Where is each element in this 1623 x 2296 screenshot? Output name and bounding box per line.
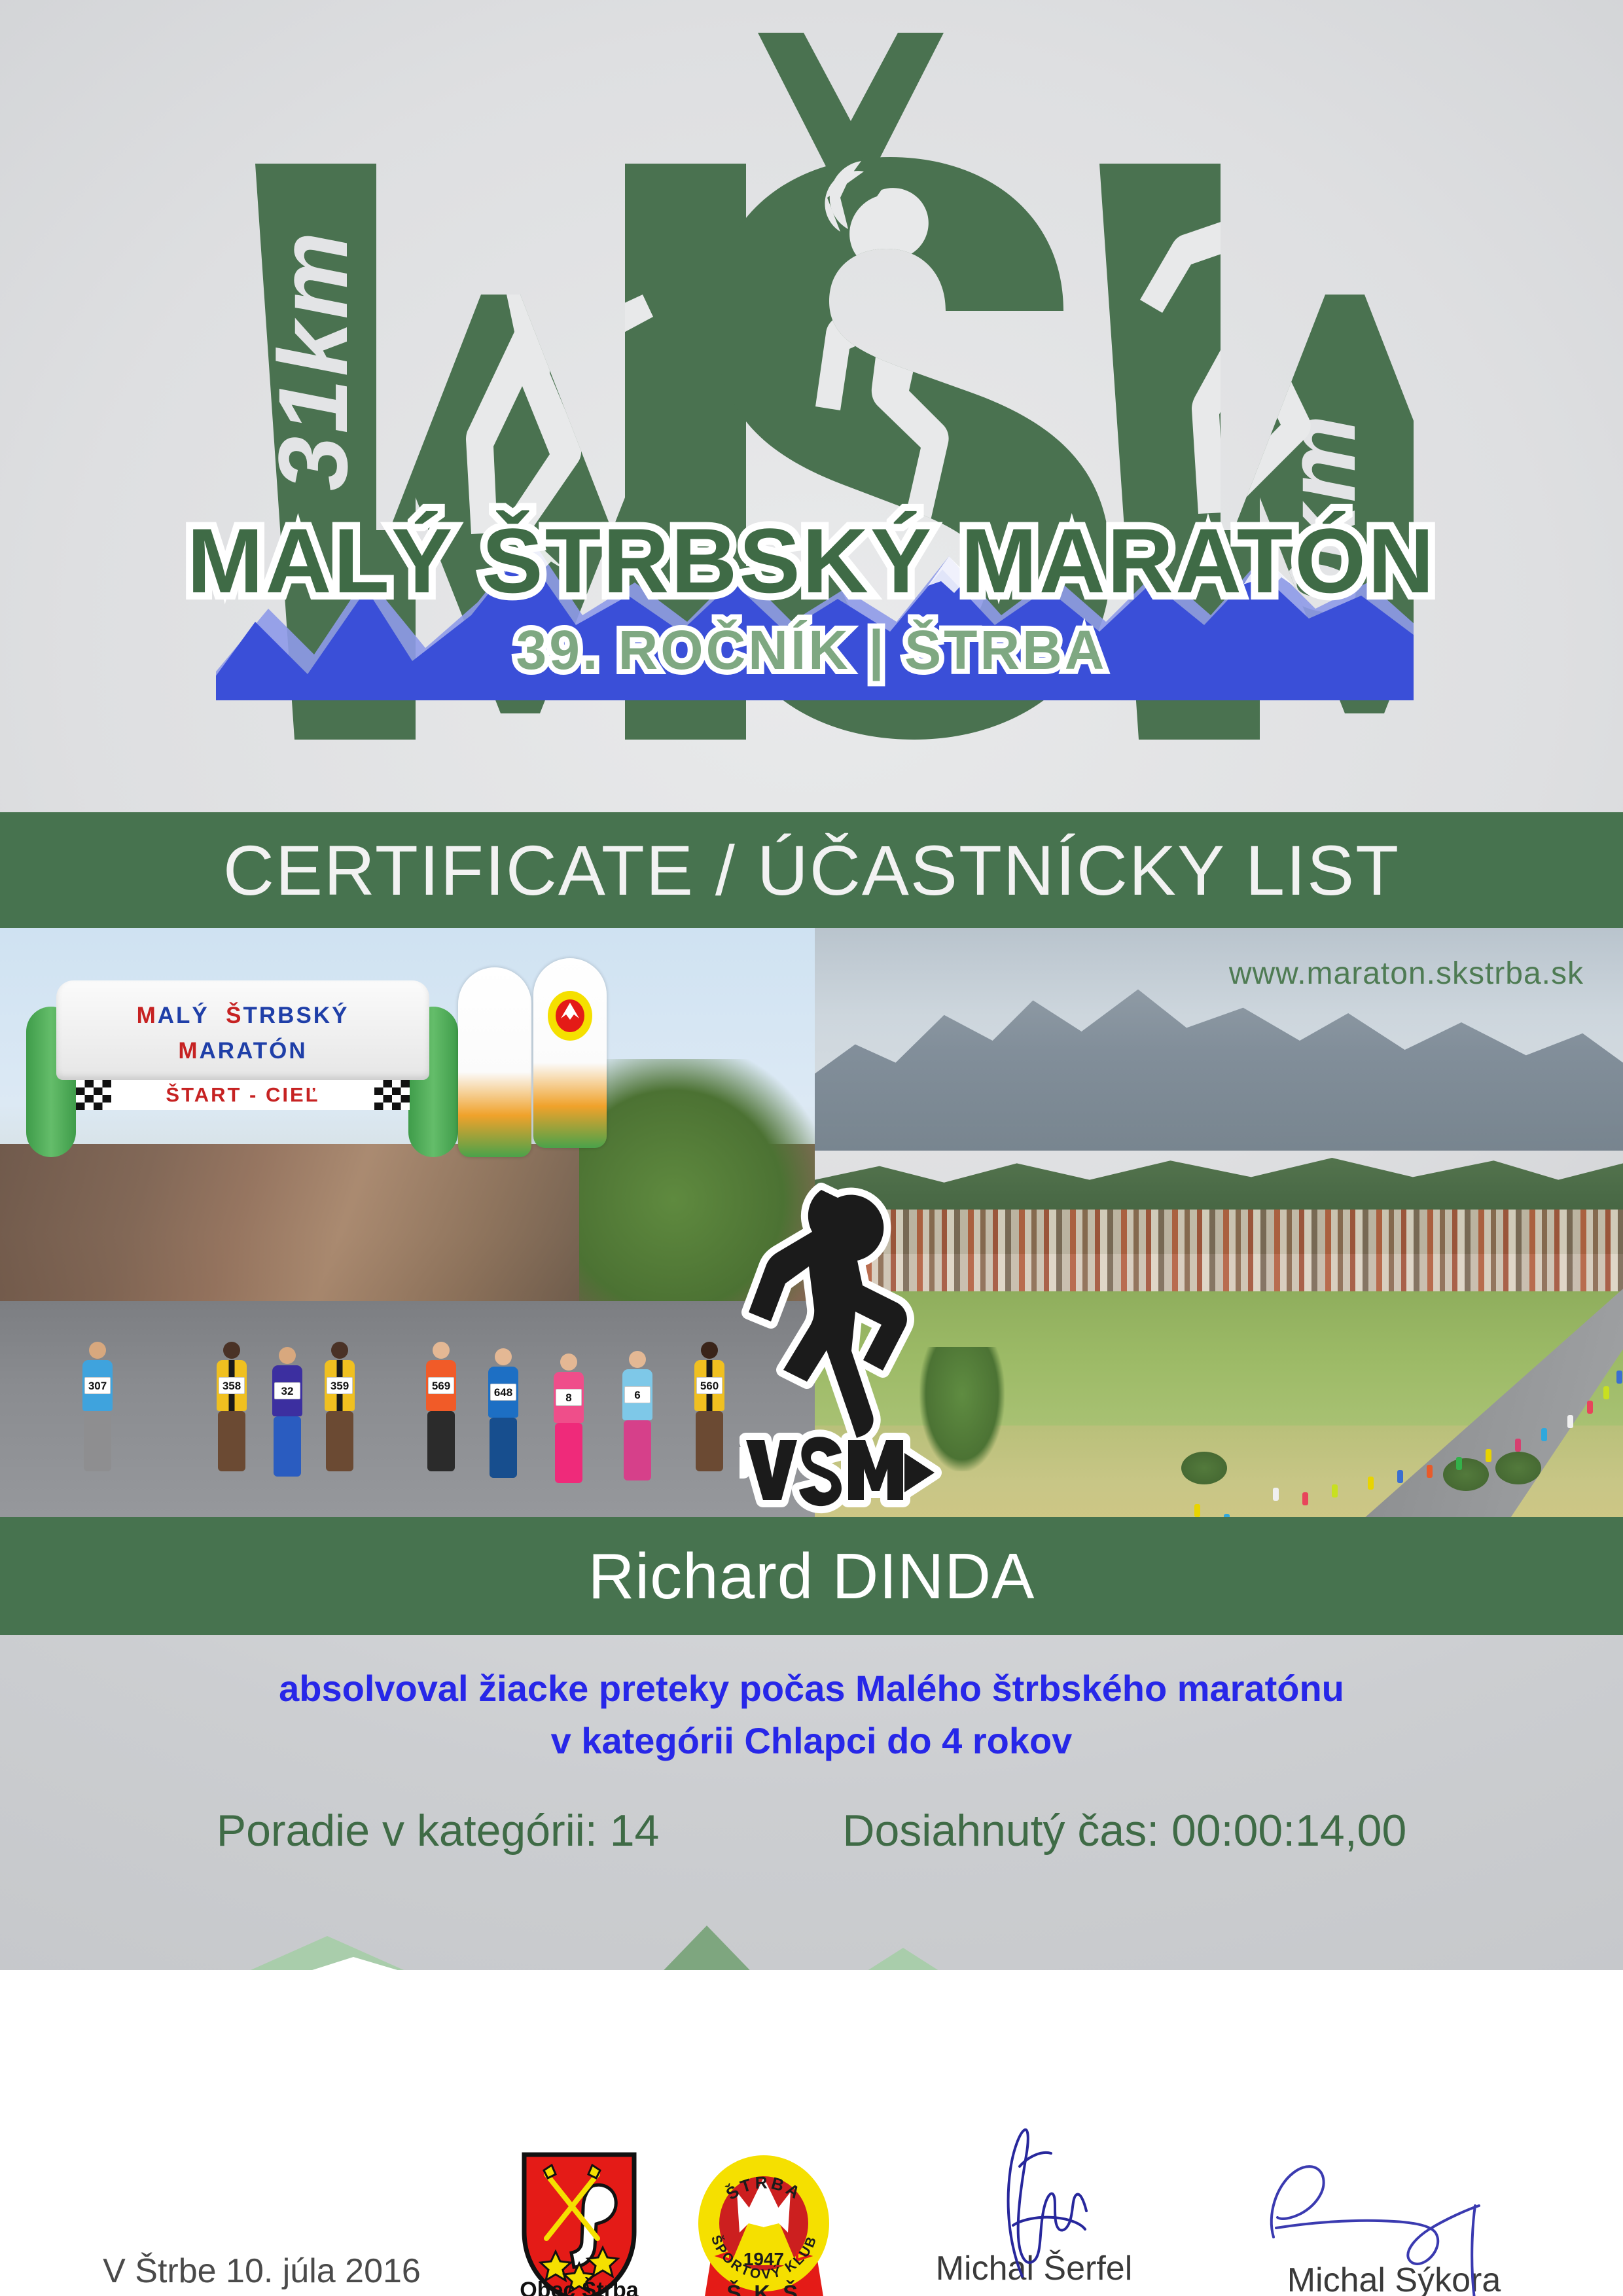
runner-figure: 560 xyxy=(690,1342,728,1471)
arch-top-panel: MALÝ ŠTRBSKÝ MARATÓN xyxy=(56,980,429,1080)
runner-figure: 569 xyxy=(422,1342,460,1471)
runner-figure: 6 xyxy=(618,1351,656,1480)
event-title-text: MALÝ ŠTRBSKÝ MARATÓN xyxy=(187,509,1436,612)
caron-accent xyxy=(758,33,944,171)
signature-block-director: Michal Šerfel riaditeľ pretekov xyxy=(851,2251,1217,2296)
distant-runner xyxy=(1194,1504,1200,1517)
flag-body xyxy=(533,958,607,1148)
checker-right xyxy=(374,1080,410,1110)
signature-role: riaditeľ pretekov xyxy=(851,2293,1217,2296)
distant-runner xyxy=(1567,1415,1573,1428)
bush xyxy=(1443,1458,1489,1491)
event-subtitle-text: 39. ROČNÍK | ŠTRBA xyxy=(516,619,1107,681)
start-finish-banner: ŠTART - CIEĽ xyxy=(76,1080,410,1110)
runner-figure: 32 xyxy=(268,1347,306,1477)
runner-bib: 6 xyxy=(624,1386,651,1403)
arch-title-line1: MALÝ ŠTRBSKÝ xyxy=(56,1003,429,1029)
photo-start-line: MALÝ ŠTRBSKÝ MARATÓN ŠTART - CIEĽ xyxy=(0,928,815,1517)
runner-figure: 307 xyxy=(79,1342,116,1471)
distant-runner xyxy=(1456,1457,1462,1470)
rank-in-category: Poradie v kategórii: 14 xyxy=(217,1805,660,1856)
runner-figure: 8 xyxy=(550,1354,588,1483)
sks-abbrev: Š K Š xyxy=(726,2280,801,2296)
distant-runner xyxy=(1397,1470,1403,1483)
participant-name: Richard DINDA xyxy=(588,1539,1035,1613)
runner-bib: 32 xyxy=(274,1382,300,1399)
event-logo-header: 31km 10km xyxy=(0,0,1623,812)
distant-runner xyxy=(1541,1428,1547,1441)
runner-figure: 358 xyxy=(213,1342,251,1471)
event-title-wordmark: MALÝ ŠTRBSKÝ MARATÓN 39. ROČNÍK | ŠTRBA xyxy=(0,497,1623,707)
distant-runner xyxy=(1587,1401,1593,1414)
signature-ink-sykora xyxy=(1211,2145,1577,2296)
distant-runner xyxy=(1515,1439,1521,1452)
participant-name-band: Richard DINDA xyxy=(0,1517,1623,1635)
teardrop-flag-tatry xyxy=(458,967,531,1157)
runner-figure: 359 xyxy=(321,1342,359,1471)
runner-figure: 648 xyxy=(484,1348,522,1478)
teardrop-flag-sks xyxy=(533,958,607,1148)
issue-date: V Štrbe 10. júla 2016 xyxy=(52,2251,471,2291)
results-row: Poradie v kategórii: 14 Dosiahnutý čas: … xyxy=(0,1805,1623,1856)
sks-flag-emblem xyxy=(545,990,595,1046)
signature-block-mayor: Michal Sýkora starosta obce Štrba xyxy=(1211,2263,1577,2296)
runner-bib: 359 xyxy=(327,1377,353,1394)
runner-bib: 648 xyxy=(490,1384,516,1401)
arch-title-line2: MARATÓN xyxy=(56,1038,429,1064)
bush xyxy=(1181,1452,1227,1484)
svg-text:31km: 31km xyxy=(258,229,368,491)
checker-left xyxy=(76,1080,111,1110)
distant-runner xyxy=(1616,1371,1622,1384)
runner-bib: 358 xyxy=(219,1377,245,1394)
certificate-title-band: CERTIFICATE / ÚČASTNÍCKY LIST xyxy=(0,812,1623,928)
distant-runner xyxy=(1486,1449,1491,1462)
distant-runner xyxy=(1302,1492,1308,1505)
website-url: www.maraton.skstrba.sk xyxy=(815,956,1584,992)
distant-runner xyxy=(1427,1465,1433,1478)
msm-runner-badge xyxy=(740,1178,949,1518)
sks-year: 1947 xyxy=(743,2249,784,2269)
runner-bib: 307 xyxy=(84,1377,111,1394)
certificate-title-text: CERTIFICATE / ÚČASTNÍCKY LIST xyxy=(223,829,1400,911)
achieved-time: Dosiahnutý čas: 00:00:14,00 xyxy=(842,1805,1406,1856)
certificate-description: absolvoval žiacke preteky počas Malého š… xyxy=(0,1662,1623,1767)
distant-runner xyxy=(1332,1484,1338,1498)
signature-ink-serfel xyxy=(851,2127,1217,2278)
distant-runner xyxy=(1273,1488,1279,1501)
inflatable-start-arch: MALÝ ŠTRBSKÝ MARATÓN ŠTART - CIEĽ xyxy=(26,980,458,1157)
description-line-1: absolvoval žiacke preteky počas Malého š… xyxy=(0,1662,1623,1715)
sks-club-emblem: ŠTRBA ŠPORTOVÝ KLUB 1947 Š K Š xyxy=(694,2137,834,2296)
distant-runner xyxy=(1368,1477,1374,1490)
municipality-caption: Obec Štrba xyxy=(504,2278,654,2296)
runner-bib: 8 xyxy=(556,1389,582,1406)
footer: V Štrbe 10. júla 2016 Obec Štrba xyxy=(0,1970,1623,2296)
strba-coat-of-arms xyxy=(520,2152,638,2296)
runner-bib: 560 xyxy=(696,1377,722,1394)
start-finish-text: ŠTART - CIEĽ xyxy=(166,1083,319,1107)
description-line-2: v kategórii Chlapci do 4 rokov xyxy=(0,1715,1623,1767)
bush xyxy=(1495,1452,1541,1484)
certificate-page: 31km 10km xyxy=(0,0,1623,2296)
runner-crowd: 307 358 32 359 xyxy=(0,1242,815,1471)
flag-body xyxy=(458,967,531,1157)
runner-bib: 569 xyxy=(428,1377,454,1394)
distant-runner xyxy=(1603,1386,1609,1399)
